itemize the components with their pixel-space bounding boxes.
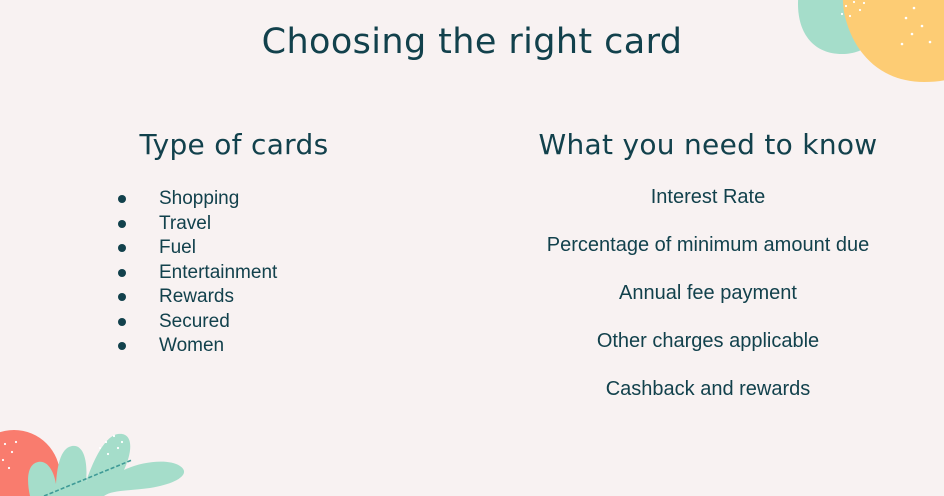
list-item-label: Fuel bbox=[159, 237, 196, 259]
slide-canvas: Choosing the right card Type of cards Sh… bbox=[0, 0, 944, 496]
coral-circle-icon bbox=[0, 430, 60, 496]
list-item[interactable]: Shopping bbox=[118, 187, 472, 212]
leaf-and-circle-bottom-left-decoration bbox=[0, 386, 200, 496]
list-item[interactable]: Entertainment bbox=[118, 261, 472, 286]
bullet-dot-icon bbox=[118, 318, 126, 326]
list-item-label: Travel bbox=[159, 213, 211, 235]
bullet-dot-icon bbox=[118, 269, 126, 277]
list-item[interactable]: Women bbox=[118, 334, 472, 359]
list-item[interactable]: Interest Rate bbox=[472, 187, 944, 207]
card-types-heading: Type of cards bbox=[8, 128, 472, 161]
list-item[interactable]: Cashback and rewards bbox=[472, 379, 944, 399]
page-title: Choosing the right card bbox=[0, 22, 944, 62]
list-item-label: Shopping bbox=[159, 188, 239, 210]
list-item-label: Entertainment bbox=[159, 262, 277, 284]
card-types-list: Shopping Travel Fuel Entertainment Rewar… bbox=[8, 187, 472, 359]
list-item-label: Secured bbox=[159, 311, 230, 333]
bullet-dot-icon bbox=[118, 195, 126, 203]
content-columns: Type of cards Shopping Travel Fuel Enter… bbox=[0, 128, 944, 399]
leaf-speckles-icon bbox=[99, 435, 123, 455]
list-item[interactable]: Travel bbox=[118, 212, 472, 237]
bullet-dot-icon bbox=[118, 293, 126, 301]
need-to-know-list: Interest Rate Percentage of minimum amou… bbox=[472, 187, 944, 399]
need-to-know-heading: What you need to know bbox=[472, 128, 944, 161]
list-item[interactable]: Secured bbox=[118, 310, 472, 335]
card-types-section: Type of cards Shopping Travel Fuel Enter… bbox=[0, 128, 472, 399]
coral-speckles-icon bbox=[2, 441, 17, 469]
leaf-icon bbox=[28, 434, 184, 496]
list-item[interactable]: Percentage of minimum amount due bbox=[472, 235, 944, 255]
list-item[interactable]: Other charges applicable bbox=[472, 331, 944, 351]
bullet-dot-icon bbox=[118, 244, 126, 252]
list-item[interactable]: Rewards bbox=[118, 285, 472, 310]
list-item[interactable]: Annual fee payment bbox=[472, 283, 944, 303]
need-to-know-section: What you need to know Interest Rate Perc… bbox=[472, 128, 944, 399]
list-item-label: Rewards bbox=[159, 286, 234, 308]
bullet-dot-icon bbox=[118, 220, 126, 228]
list-item[interactable]: Fuel bbox=[118, 236, 472, 261]
leaf-stem-icon bbox=[44, 460, 132, 496]
bullet-dot-icon bbox=[118, 342, 126, 350]
list-item-label: Women bbox=[159, 335, 224, 357]
